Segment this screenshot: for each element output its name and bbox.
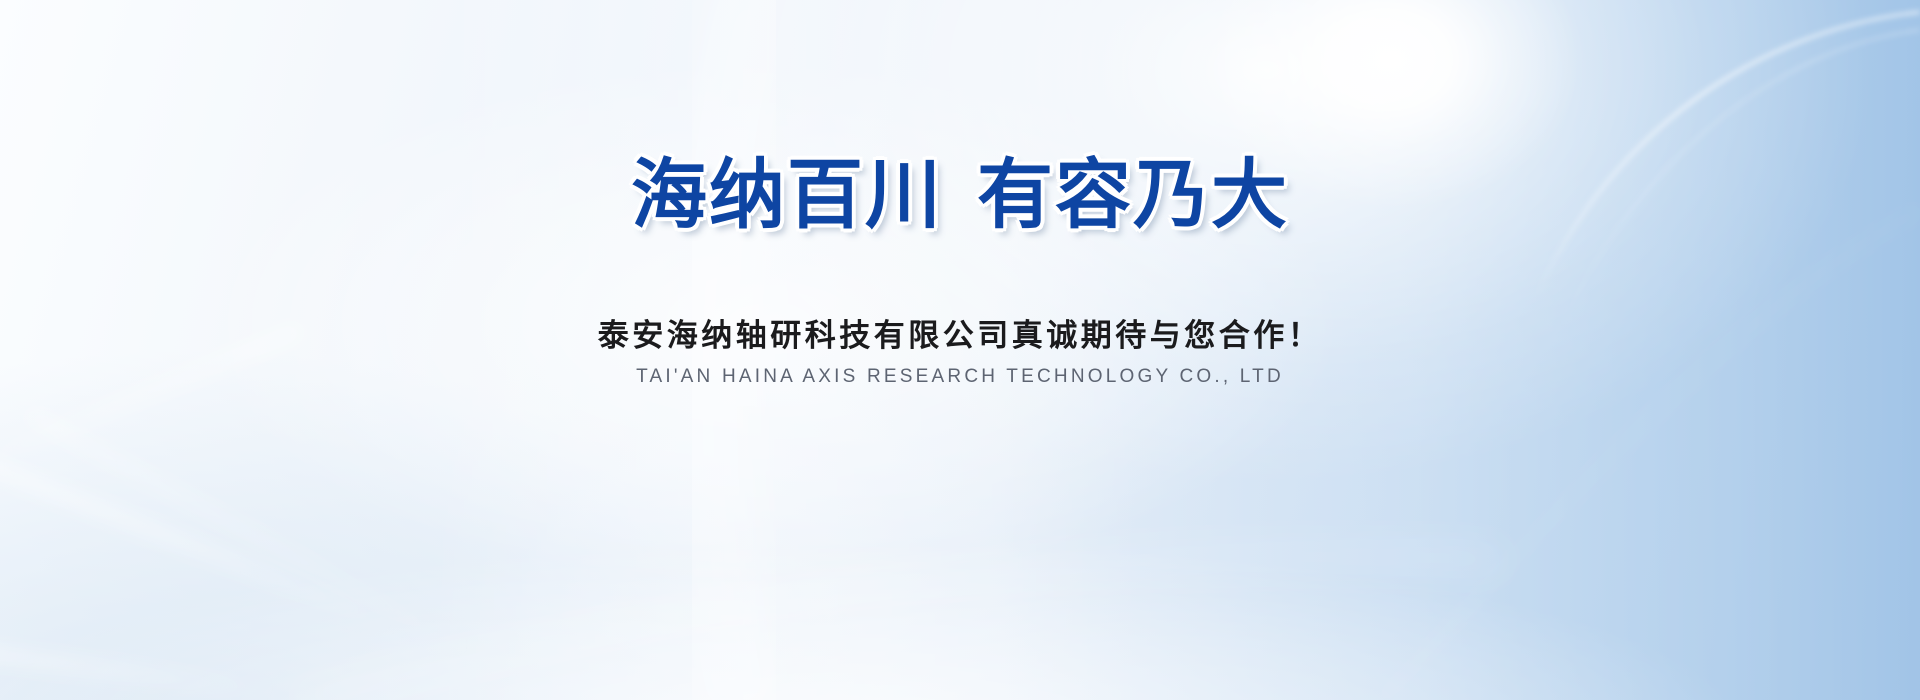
headline-part-right: 有容乃大	[977, 153, 1289, 238]
hero-banner: 海纳百川有容乃大 泰安海纳轴研科技有限公司真诚期待与您合作！ TAI'AN HA…	[0, 0, 1920, 700]
subtitle-english: TAI'AN HAINA AXIS RESEARCH TECHNOLOGY CO…	[0, 364, 1920, 391]
banner-content: 海纳百川有容乃大 泰安海纳轴研科技有限公司真诚期待与您合作！ TAI'AN HA…	[0, 0, 1920, 700]
subtitle-chinese: 泰安海纳轴研科技有限公司真诚期待与您合作！	[0, 315, 1920, 357]
headline-part-left: 海纳百川	[631, 153, 943, 238]
headline: 海纳百川有容乃大	[0, 158, 1920, 234]
